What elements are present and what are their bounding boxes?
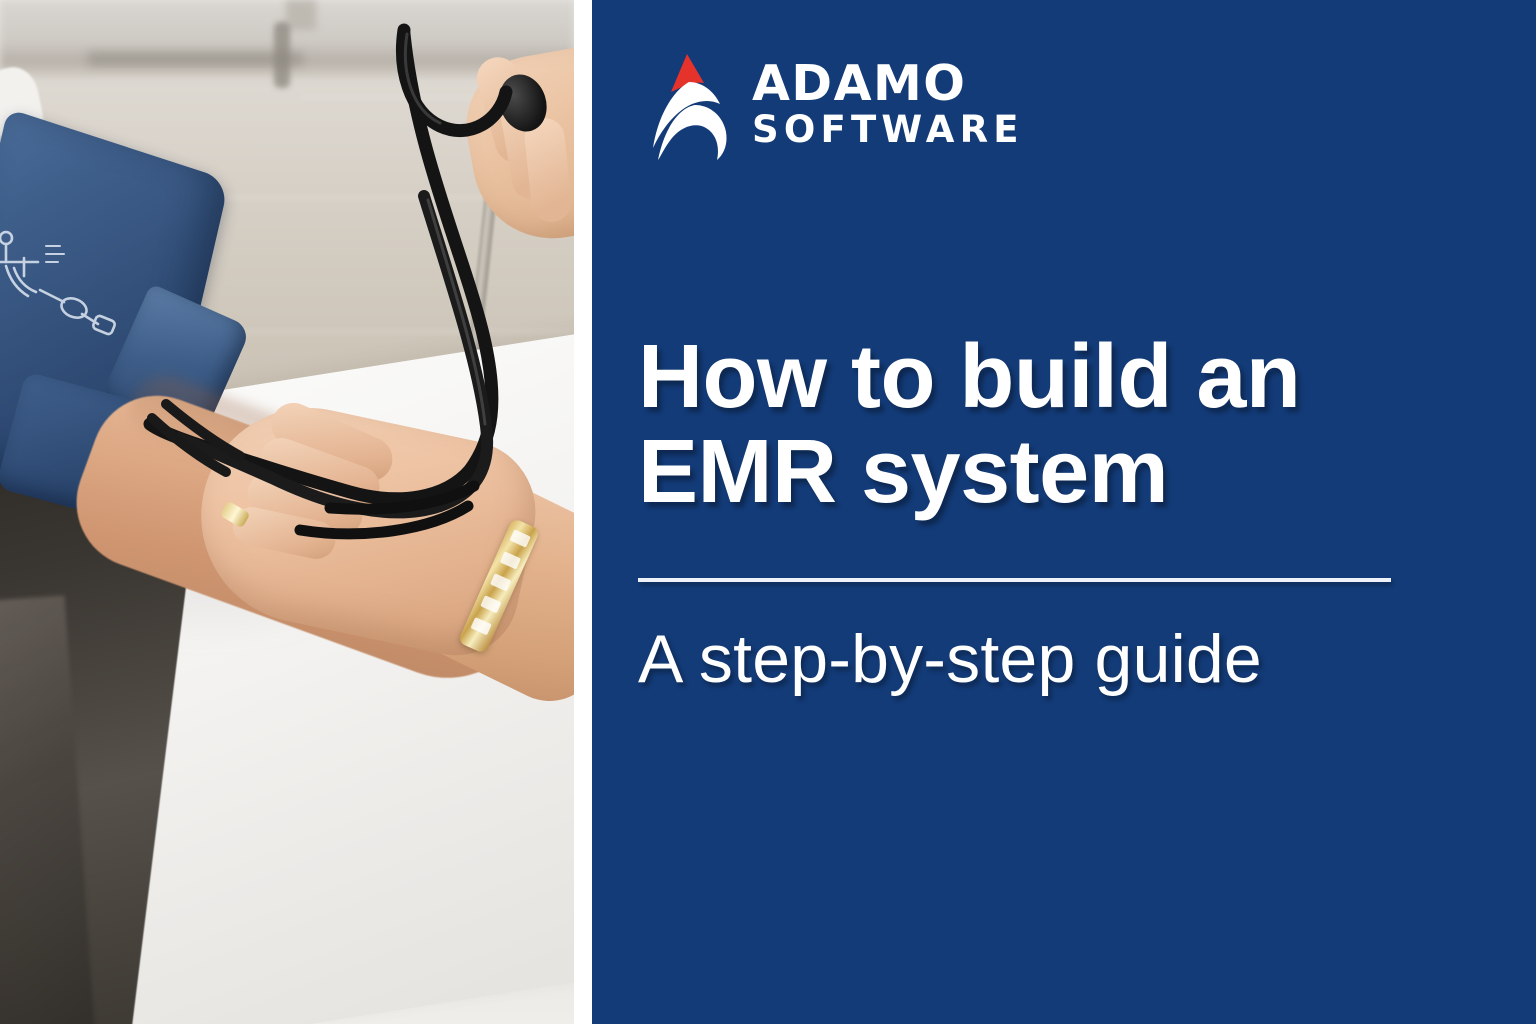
brand-wordmark: ADAMO SOFTWARE [752, 57, 1024, 151]
panel-gap [574, 0, 592, 1024]
brand-name-primary: ADAMO [752, 61, 1024, 108]
title-divider [638, 578, 1391, 582]
hero-photo [0, 0, 574, 1024]
page-subtitle: A step-by-step guide [638, 622, 1458, 697]
adamo-a-swoosh-logo-icon [640, 48, 736, 160]
page-title-line-2: EMR system [638, 425, 1438, 520]
brand-name-secondary: SOFTWARE [752, 110, 1024, 151]
page-title: How to build an EMR system [638, 330, 1438, 521]
page-title-line-1: How to build an [638, 330, 1438, 425]
rubber-tubing [0, 0, 574, 1024]
brand-logo[interactable]: ADAMO SOFTWARE [640, 48, 1024, 160]
content-panel: ADAMO SOFTWARE How to build an EMR syste… [592, 0, 1536, 1024]
marketing-banner: ADAMO SOFTWARE How to build an EMR syste… [0, 0, 1536, 1024]
